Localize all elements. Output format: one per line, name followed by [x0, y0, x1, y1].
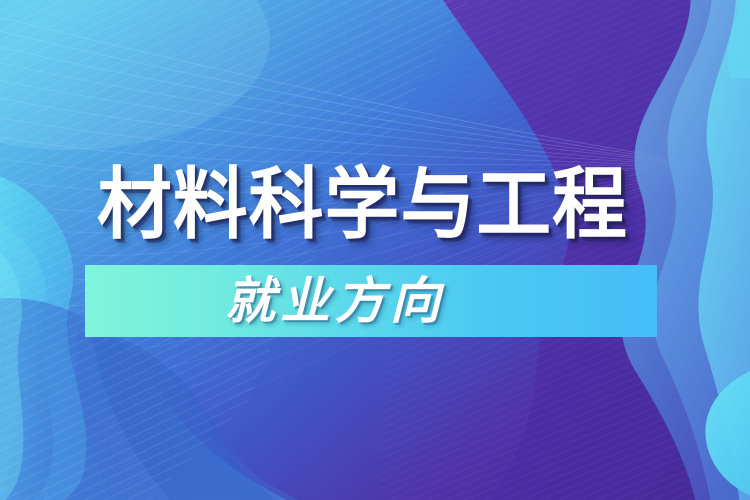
subtitle-band — [85, 265, 657, 337]
background-artwork — [0, 0, 750, 500]
course-banner: 材料科学与工程 就业方向 — [0, 0, 750, 500]
